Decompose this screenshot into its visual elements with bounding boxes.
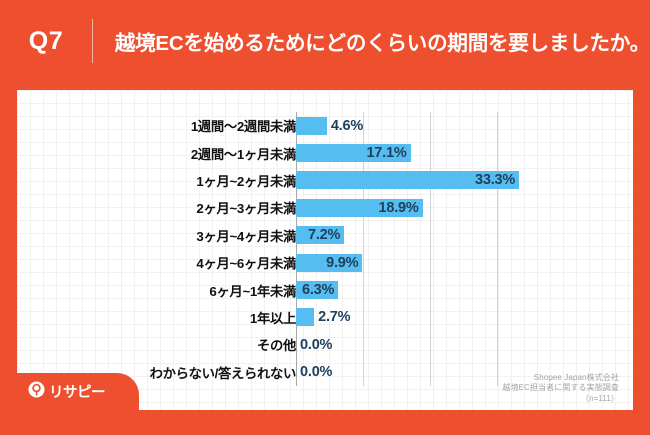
value-label: 0.0%	[300, 337, 332, 353]
bar-container: 7.2%	[296, 222, 344, 249]
value-label: 17.1%	[366, 145, 406, 161]
chart-row: 2週間〜1ヶ月未満17.1%	[17, 139, 633, 166]
value-label: 0.0%	[300, 364, 332, 380]
bar-container: 17.1%	[296, 139, 411, 166]
category-label: 1年以上	[46, 308, 296, 327]
chart-row: 1週間〜2週間未満4.6%	[17, 112, 633, 139]
chart-row: 3ヶ月~4ヶ月未満7.2%	[17, 222, 633, 249]
question-header: Q7 越境ECを始めるためにどのくらいの期間を要しましたか。	[0, 0, 650, 82]
chart-rows: 1週間〜2週間未満4.6%2週間〜1ヶ月未満17.1%1ヶ月~2ヶ月未満33.3…	[17, 112, 633, 386]
value-label: 2.7%	[318, 309, 350, 325]
chart-row: その他0.0%	[17, 331, 633, 358]
source-line-survey: 越境EC担当者に関する実態調査	[502, 383, 619, 394]
survey-chart-page: Q7 越境ECを始めるためにどのくらいの期間を要しましたか。 1週間〜2週間未満…	[0, 0, 650, 435]
horizontal-bar-chart: 1週間〜2週間未満4.6%2週間〜1ヶ月未満17.1%1ヶ月~2ヶ月未満33.3…	[17, 90, 633, 410]
category-label: 1週間〜2週間未満	[46, 116, 296, 135]
bar-container: 33.3%	[296, 167, 519, 194]
source-line-sample: （n=111）	[502, 394, 619, 405]
value-label: 4.6%	[331, 118, 363, 134]
value-bar	[296, 117, 327, 135]
bar-container: 0.0%	[296, 359, 297, 386]
value-label: 9.9%	[326, 255, 358, 271]
value-label: 33.3%	[475, 172, 515, 188]
category-label: 4ヶ月~6ヶ月未満	[46, 253, 296, 272]
value-label: 6.3%	[302, 282, 334, 298]
category-label: 2ヶ月~3ヶ月未満	[46, 198, 296, 217]
question-number: Q7	[0, 27, 92, 56]
bar-container: 0.0%	[296, 331, 297, 358]
value-label: 18.9%	[379, 200, 419, 216]
category-label: 6ヶ月~1年未満	[46, 281, 296, 300]
source-line-company: Shopee Japan株式会社	[502, 373, 619, 384]
chart-card: 1週間〜2週間未満4.6%2週間〜1ヶ月未満17.1%1ヶ月~2ヶ月未満33.3…	[17, 90, 633, 410]
value-label: 7.2%	[308, 227, 340, 243]
brand-name: リサピー	[49, 381, 105, 402]
chart-row: 1ヶ月~2ヶ月未満33.3%	[17, 167, 633, 194]
bar-container: 4.6%	[296, 112, 327, 139]
category-label: 1ヶ月~2ヶ月未満	[46, 171, 296, 190]
chart-row: 6ヶ月~1年未満6.3%	[17, 276, 633, 303]
question-title: 越境ECを始めるためにどのくらいの期間を要しましたか。	[93, 26, 650, 56]
magnifier-circle-icon	[28, 381, 45, 403]
source-attribution: Shopee Japan株式会社 越境EC担当者に関する実態調査 （n=111）	[502, 373, 619, 405]
category-label: その他	[46, 335, 296, 354]
bar-container: 18.9%	[296, 194, 423, 221]
bar-container: 6.3%	[296, 276, 338, 303]
category-label: 3ヶ月~4ヶ月未満	[46, 226, 296, 245]
bar-container: 9.9%	[296, 249, 362, 276]
chart-row: 2ヶ月~3ヶ月未満18.9%	[17, 194, 633, 221]
bar-container: 2.7%	[296, 304, 314, 331]
category-label: 2週間〜1ヶ月未満	[46, 144, 296, 163]
chart-row: 4ヶ月~6ヶ月未満9.9%	[17, 249, 633, 276]
chart-row: 1年以上2.7%	[17, 304, 633, 331]
brand-logo: リサピー	[17, 373, 139, 410]
value-bar	[296, 308, 314, 326]
